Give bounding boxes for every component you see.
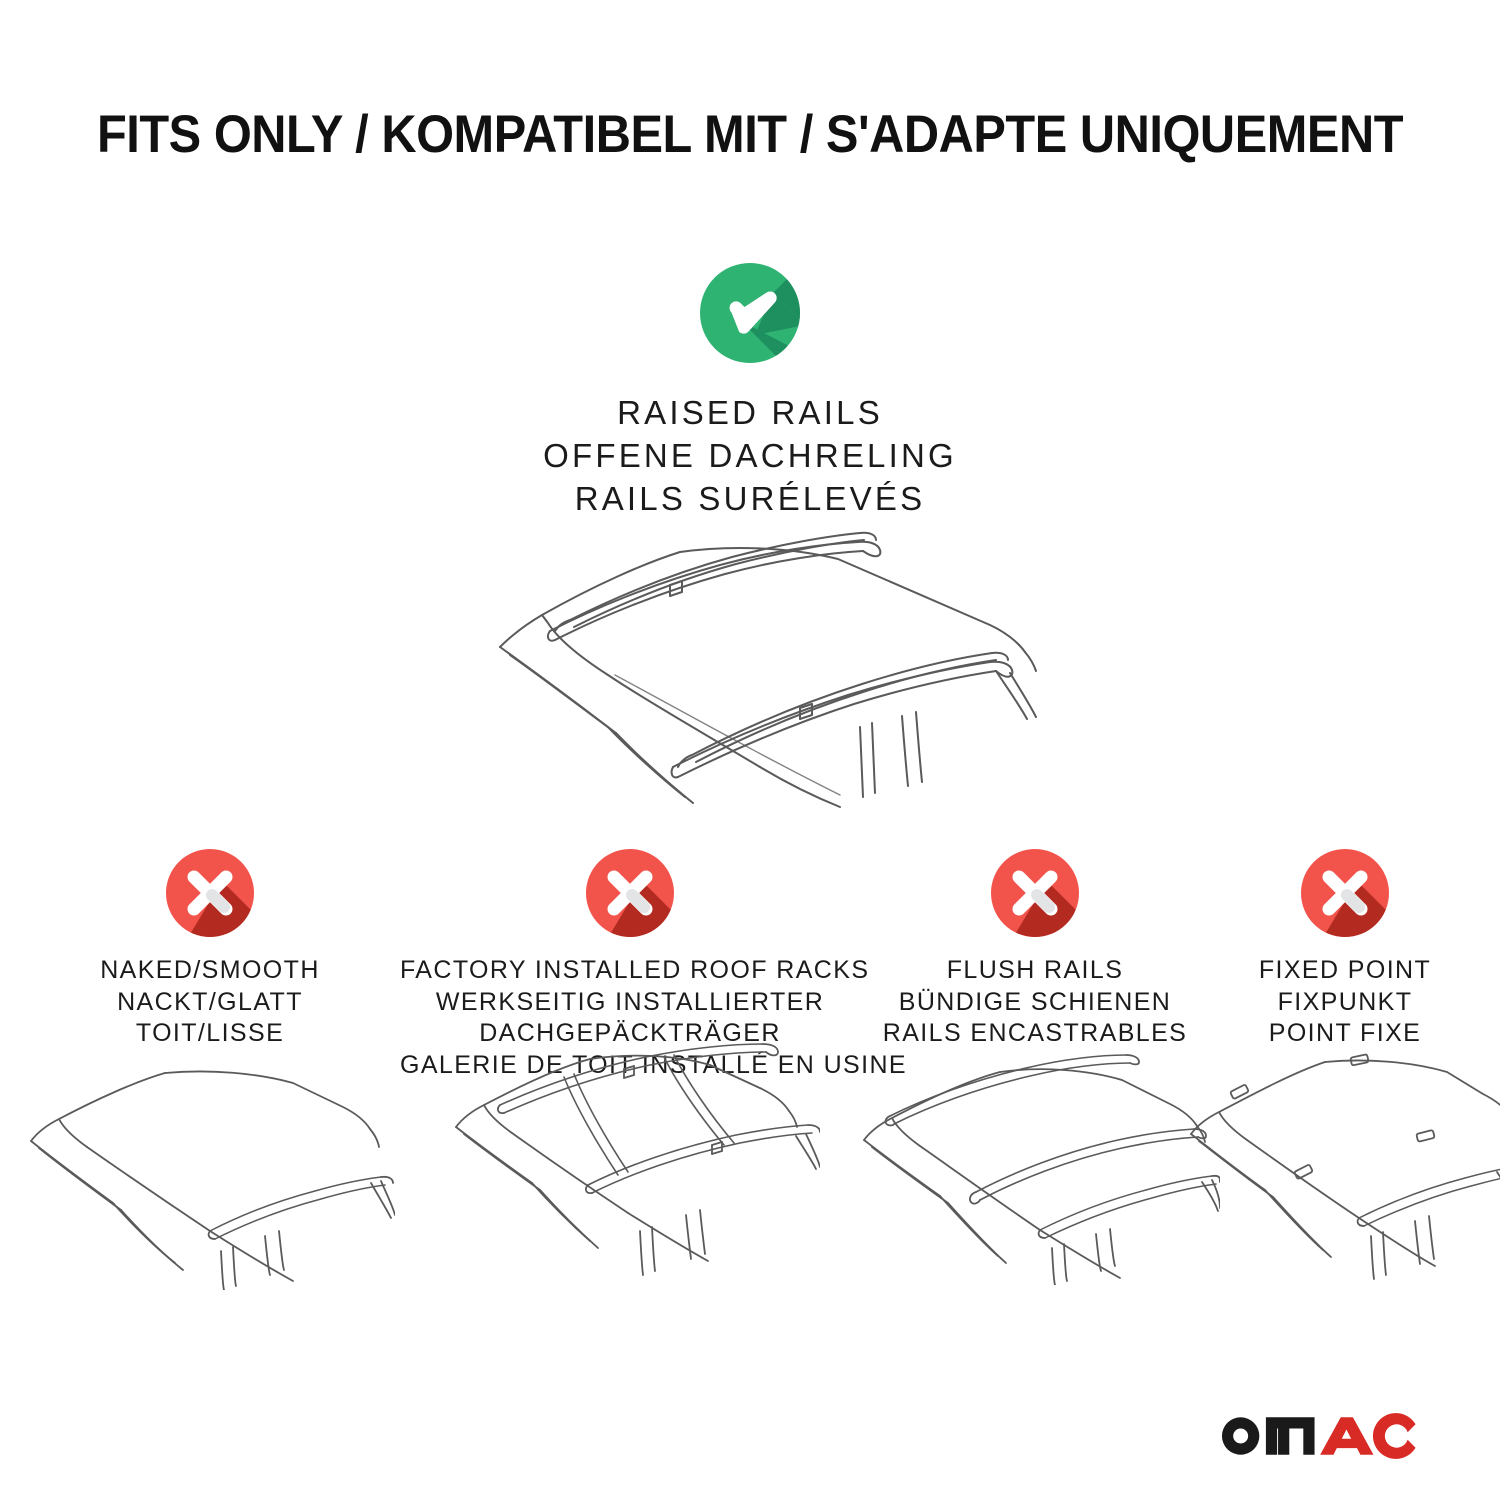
car-roof-flush-rails-illustration	[850, 1050, 1220, 1285]
incompatible-labels: FIXED POINT FIXPUNKT POINT FIXE	[1200, 955, 1490, 1050]
logo-letter-c	[1373, 1413, 1416, 1459]
compatible-labels: RAISED RAILS OFFENE DACHRELING RAILS SUR…	[0, 392, 1500, 521]
incompatible-item-fixed-point: FIXED POINT FIXPUNKT POINT FIXE	[1200, 845, 1490, 1050]
x-circle-icon	[162, 845, 258, 941]
incompatible-item-factory-roof-rack: FACTORY INSTALLED ROOF RACKS WERKSEITIG …	[400, 845, 860, 1081]
x-circle-icon	[1297, 845, 1393, 941]
label-line-de: NACKT/GLATT	[40, 987, 380, 1019]
incompatible-labels: FLUSH RAILS BÜNDIGE SCHIENEN RAILS ENCAS…	[870, 955, 1200, 1050]
label-line-en: NAKED/SMOOTH	[40, 955, 380, 987]
label-line-de: FIXPUNKT	[1200, 987, 1490, 1019]
x-circle-icon	[582, 845, 678, 941]
car-roof-raised-rails-illustration	[0, 505, 1500, 840]
car-roof-factory-roof-rack-illustration	[440, 1035, 820, 1290]
logo-letter-a	[1320, 1417, 1373, 1454]
page-title-bar: FITS ONLY / KOMPATIBEL MIT / S'ADAPTE UN…	[0, 104, 1500, 165]
compatible-section: RAISED RAILS OFFENE DACHRELING RAILS SUR…	[0, 258, 1500, 521]
x-circle-icon	[987, 845, 1083, 941]
page-title: FITS ONLY / KOMPATIBEL MIT / S'ADAPTE UN…	[60, 104, 1440, 165]
label-line-fr: TOIT/LISSE	[40, 1018, 380, 1050]
incompatible-section: NAKED/SMOOTH NACKT/GLATT TOIT/LISSE	[0, 845, 1500, 1315]
fitment-infographic: FITS ONLY / KOMPATIBEL MIT / S'ADAPTE UN…	[0, 0, 1500, 1500]
label-line-fr: RAILS ENCASTRABLES	[870, 1018, 1200, 1050]
incompatible-item-naked-smooth: NAKED/SMOOTH NACKT/GLATT TOIT/LISSE	[40, 845, 380, 1050]
label-line-de-1: WERKSEITIG INSTALLIERTER	[400, 987, 860, 1019]
logo-letter-o	[1222, 1417, 1259, 1454]
logo-letter-m	[1266, 1417, 1315, 1454]
incompatible-labels: NAKED/SMOOTH NACKT/GLATT TOIT/LISSE	[40, 955, 380, 1050]
brand-logo-omac: OMAC	[1221, 1406, 1464, 1466]
check-circle-icon	[695, 258, 805, 368]
compatible-label-de: OFFENE DACHRELING	[0, 435, 1500, 478]
label-line-en: FACTORY INSTALLED ROOF RACKS	[400, 955, 860, 987]
compatible-label-en: RAISED RAILS	[0, 392, 1500, 435]
label-line-en: FLUSH RAILS	[870, 955, 1200, 987]
car-roof-fixed-point-illustration	[1175, 1050, 1500, 1285]
label-line-en: FIXED POINT	[1200, 955, 1490, 987]
label-line-de: BÜNDIGE SCHIENEN	[870, 987, 1200, 1019]
car-roof-naked-smooth-illustration	[25, 1055, 395, 1290]
incompatible-item-flush-rails: FLUSH RAILS BÜNDIGE SCHIENEN RAILS ENCAS…	[870, 845, 1200, 1050]
label-line-fr: POINT FIXE	[1200, 1018, 1490, 1050]
